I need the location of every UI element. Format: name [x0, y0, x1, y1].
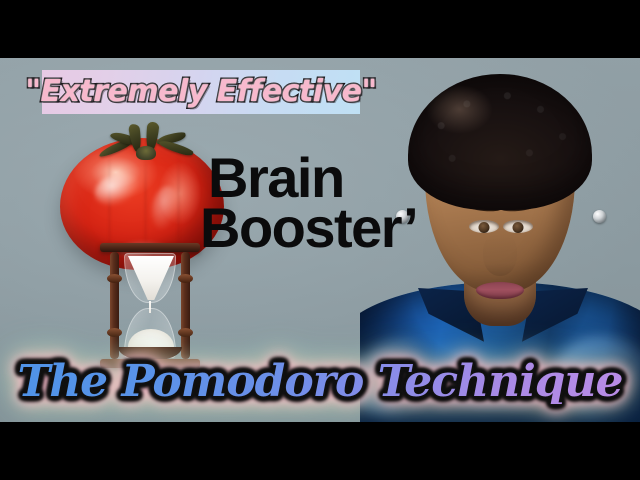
iris-right — [479, 222, 490, 233]
tomato-stem-nub — [136, 146, 156, 160]
video-thumbnail: "Extremely Effective" Brain Booster’ The… — [0, 0, 640, 480]
bottom-title-text: The Pomodoro Technique — [17, 360, 622, 404]
hourglass-glass — [124, 253, 176, 358]
tomato-stem — [96, 120, 192, 166]
hourglass-post — [181, 252, 190, 359]
eye-left — [503, 220, 533, 233]
tomato-highlight — [90, 168, 143, 211]
iris-left — [513, 222, 524, 233]
top-banner: "Extremely Effective" — [42, 70, 360, 114]
hourglass-icon — [100, 243, 200, 368]
thumbnail-canvas: "Extremely Effective" Brain Booster’ The… — [0, 58, 640, 422]
eye-right — [469, 220, 499, 233]
tomato-highlight — [148, 184, 181, 232]
letterbox-bar-top — [0, 0, 640, 58]
hourglass-top-plate — [100, 243, 200, 252]
headline: Brain Booster’ — [200, 152, 417, 253]
lips — [476, 282, 524, 299]
hourglass-post — [110, 252, 119, 359]
nose — [483, 234, 517, 276]
earring-right — [593, 210, 606, 223]
letterbox-bar-bottom — [0, 422, 640, 480]
presenter-hair — [408, 74, 592, 210]
headline-line-2: Booster’ — [200, 202, 417, 254]
hourglass-sand-upper — [128, 256, 174, 300]
bottom-title: The Pomodoro Technique — [0, 360, 640, 404]
hourglass-upper-bulb — [124, 253, 176, 303]
top-banner-text: "Extremely Effective" — [25, 77, 376, 107]
